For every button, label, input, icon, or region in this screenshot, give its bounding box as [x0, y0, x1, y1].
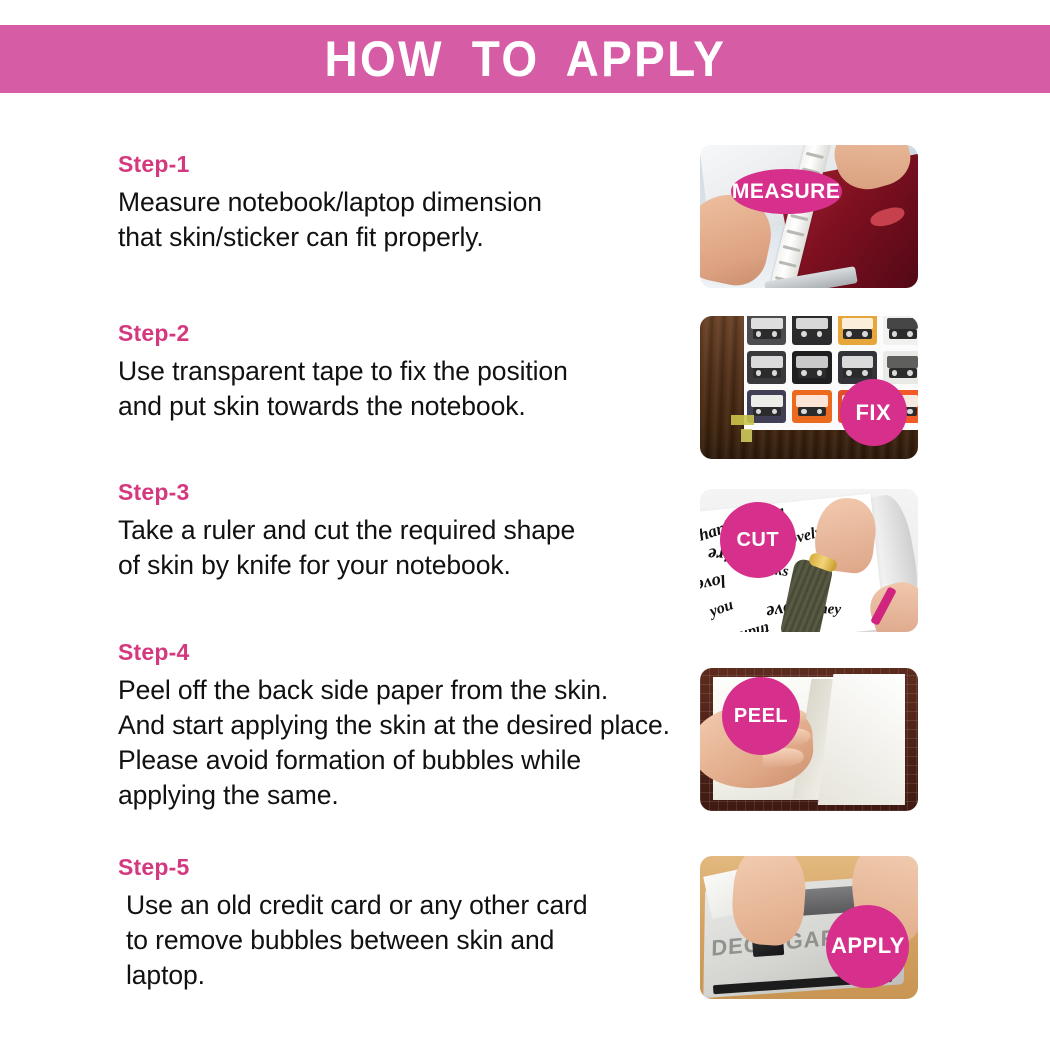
cassette-tile: [792, 351, 831, 384]
step-label-5: Step-5: [118, 853, 587, 881]
step-item-2: Step-2 Use transparent tape to fix the p…: [118, 319, 568, 424]
step-label-4: Step-4: [118, 638, 670, 666]
badge-measure: MEASURE: [731, 169, 842, 213]
step-item-3: Step-3 Take a ruler and cut the required…: [118, 478, 575, 583]
cassette-tile: [838, 316, 877, 345]
badge-peel: PEEL: [722, 677, 800, 756]
step-body-3: Take a ruler and cut the required shape …: [118, 513, 575, 583]
step-body-4: Peel off the back side paper from the sk…: [118, 673, 670, 813]
cassette-tile: [792, 390, 831, 423]
cassette-tile: [792, 316, 831, 345]
step-body-5: Use an old credit card or any other card…: [118, 888, 587, 993]
badge-fix: FIX: [840, 379, 908, 446]
yellow-tape-strip: [731, 415, 755, 425]
header-banner: HOW TO APPLY: [0, 25, 1050, 93]
measure-photo: MEASURE: [700, 145, 918, 288]
step-body-2: Use transparent tape to fix the position…: [118, 354, 568, 424]
step-label-2: Step-2: [118, 319, 568, 347]
step-label-1: Step-1: [118, 150, 542, 178]
fix-photo: FIX: [700, 316, 918, 459]
step-item-1: Step-1 Measure notebook/laptop dimension…: [118, 150, 542, 255]
badge-cut: CUT: [720, 502, 796, 578]
cassette-tile: [883, 351, 918, 384]
cut-photo: thank you love you're lovely love thanks…: [700, 489, 918, 632]
yellow-tape-strip: [741, 429, 752, 442]
step-body-1: Measure notebook/laptop dimension that s…: [118, 185, 542, 255]
cassette-tile: [883, 316, 918, 345]
peel-photo: PEEL: [700, 668, 918, 811]
cassette-tile: [747, 351, 786, 384]
apply-photo: DECO GARDEN APPLY: [700, 856, 918, 999]
step-item-4: Step-4 Peel off the back side paper from…: [118, 638, 670, 813]
page-title: HOW TO APPLY: [324, 34, 726, 84]
step-label-3: Step-3: [118, 478, 575, 506]
cassette-tile: [747, 316, 786, 345]
step-item-5: Step-5 Use an old credit card or any oth…: [118, 853, 587, 993]
badge-apply: APPLY: [826, 905, 909, 988]
